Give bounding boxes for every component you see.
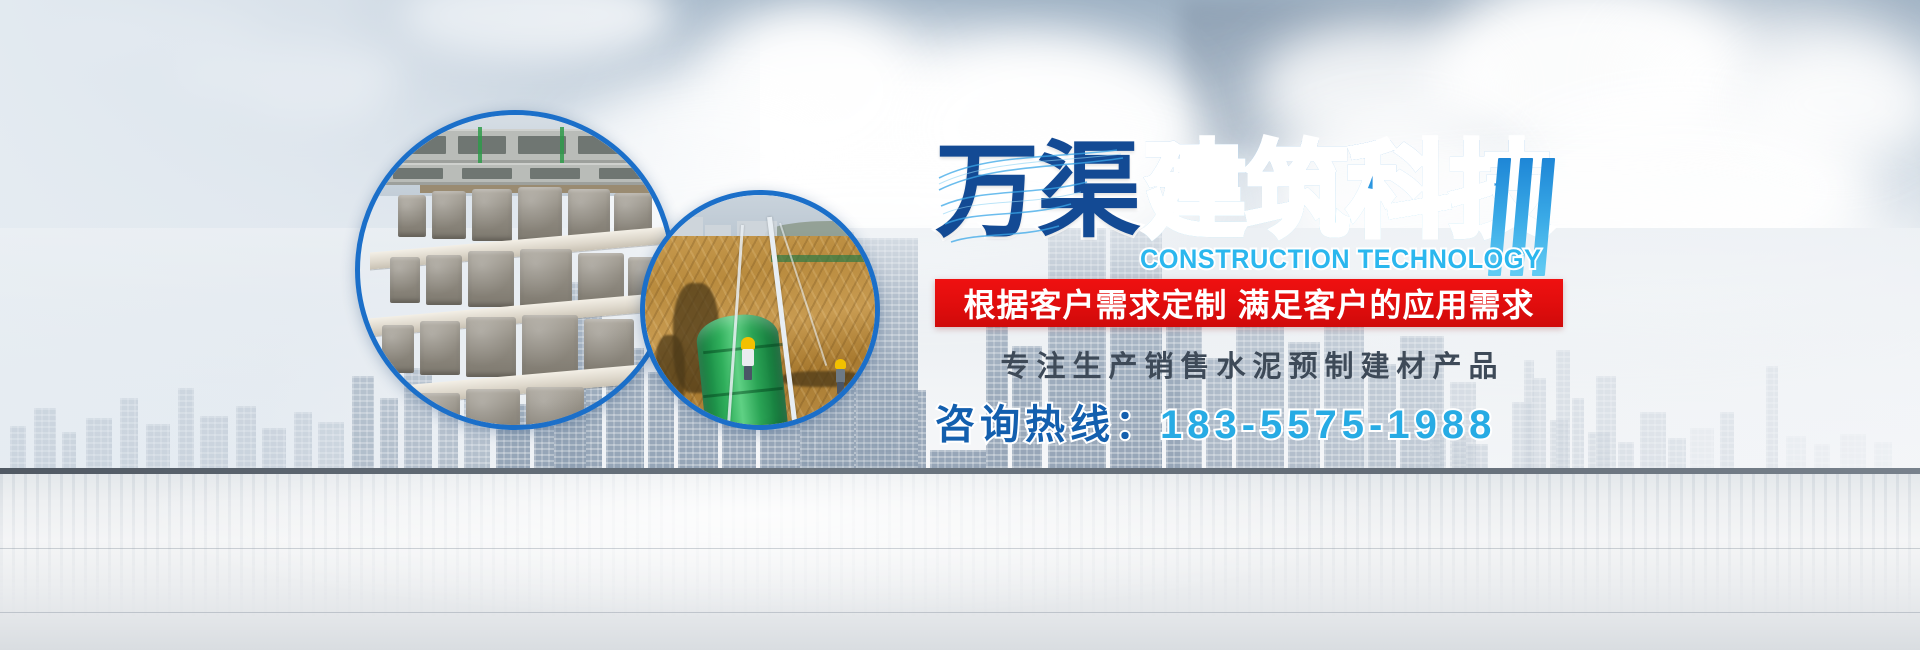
- hotline-row: 咨询热线：183-5575-1988: [935, 401, 1587, 449]
- skyline-building: [86, 418, 112, 468]
- skyline-building: [294, 412, 312, 468]
- precast-curb: [374, 397, 410, 425]
- precast-curb: [382, 325, 414, 373]
- precast-curb: [466, 389, 520, 425]
- skyline-building: [1640, 412, 1666, 468]
- worker: [741, 337, 755, 379]
- precast-curb: [526, 387, 584, 425]
- worker-legs: [837, 382, 844, 394]
- worker-legs: [863, 396, 870, 408]
- precast-curb: [420, 321, 460, 375]
- precast-curb: [432, 191, 466, 239]
- green-strap: [632, 127, 636, 165]
- skyline-building: [1840, 434, 1866, 468]
- worker: [835, 359, 846, 393]
- brand-title-row: 万渠 建筑科技: [935, 140, 1615, 265]
- installation-photo-circle[interactable]: [640, 190, 880, 430]
- hard-hat-icon: [741, 337, 755, 350]
- concrete-block-stack: [380, 129, 670, 163]
- green-strap: [560, 127, 564, 165]
- skyline-building: [930, 450, 986, 468]
- worker-body: [862, 383, 871, 397]
- precast-curb: [390, 257, 420, 303]
- installation-photo-content: [645, 195, 875, 425]
- brand-name-primary: 万渠: [935, 140, 1139, 244]
- trench: [655, 335, 685, 411]
- worker: [861, 373, 872, 407]
- worker-body: [742, 349, 753, 367]
- worker-body: [836, 369, 845, 383]
- skyline-building: [1668, 438, 1686, 468]
- hotline-number[interactable]: 183-5575-1988: [1160, 403, 1496, 447]
- precast-curb: [416, 393, 460, 425]
- skyline-building: [200, 416, 228, 468]
- skyline-building: [1690, 428, 1714, 468]
- skyline-building: [10, 426, 26, 468]
- precast-curb: [426, 255, 462, 305]
- green-strap: [478, 127, 482, 165]
- precast-curb: [518, 187, 562, 243]
- brand-primary-wrap: 万渠: [935, 140, 1139, 244]
- hard-hat-icon: [835, 359, 846, 369]
- promo-banner: 万渠 建筑科技: [0, 0, 1920, 650]
- site-fence: [771, 255, 875, 262]
- skyline-building: [62, 432, 76, 468]
- precast-curb: [468, 251, 514, 307]
- worker-legs: [744, 366, 753, 380]
- product-photo-content: [360, 115, 670, 425]
- precast-curb: [472, 189, 512, 241]
- trench: [781, 371, 867, 387]
- skyline-building: [1618, 442, 1634, 468]
- brand-name-secondary: 建筑科技: [1143, 140, 1551, 244]
- red-slogan-text: 根据客户需求定制 满足客户的应用需求: [964, 280, 1535, 326]
- skyline-building: [262, 428, 286, 468]
- precast-curb: [520, 249, 572, 309]
- concrete-block-stack: [368, 163, 670, 185]
- plaza-seam: [0, 612, 1920, 613]
- brand-subtitle-en: CONSTRUCTION TECHNOLOGY: [1140, 244, 1541, 274]
- skyline-building: [1814, 444, 1830, 468]
- hard-hat-icon: [861, 373, 872, 383]
- skyline-tower: [1766, 366, 1778, 468]
- product-photo-circle[interactable]: [355, 110, 675, 430]
- skyline-building: [1786, 436, 1806, 468]
- skyline-building: [318, 422, 344, 468]
- plaza-seam: [0, 548, 1920, 549]
- tagline-text: 专注生产销售水泥预制建材产品: [935, 343, 1563, 385]
- hotline-label: 咨询热线：: [935, 403, 1160, 447]
- banner-text-block: 万渠 建筑科技: [935, 140, 1615, 449]
- skyline-building: [1874, 442, 1892, 468]
- skyline-building: [120, 398, 138, 468]
- precast-curb: [522, 315, 578, 379]
- plaza-sheen: [0, 474, 1920, 650]
- skyline-building: [1720, 412, 1734, 468]
- red-slogan-banner: 根据客户需求定制 满足客户的应用需求: [935, 279, 1563, 327]
- skyline-building: [146, 424, 170, 468]
- skyline-building: [236, 406, 256, 468]
- precast-curb: [466, 317, 516, 377]
- skyline-building: [178, 388, 194, 468]
- skyline-building: [34, 408, 56, 468]
- precast-curb: [398, 195, 426, 237]
